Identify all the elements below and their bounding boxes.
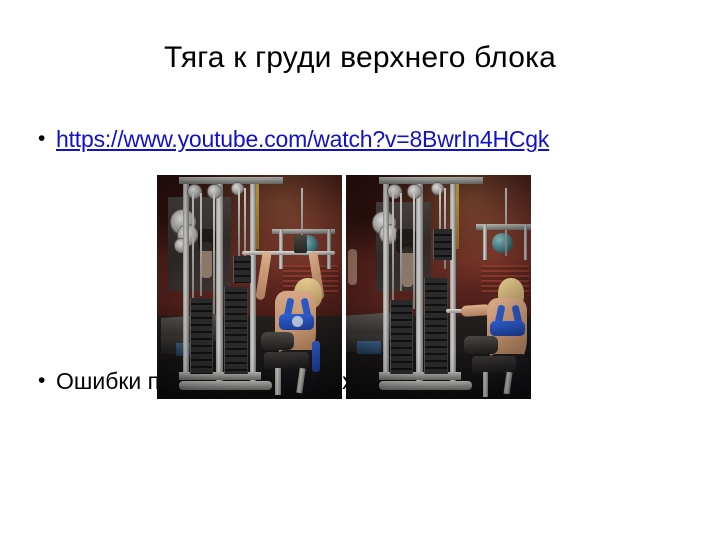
weight-stack [424, 278, 448, 374]
lat-pulldown-bar [242, 251, 335, 255]
bullet-marker-icon: • [34, 366, 56, 396]
body-placeholder: • https://www.youtube.com/watch?v=8BwrIn… [34, 124, 690, 154]
bullet-marker-icon: • [34, 124, 56, 154]
cable [200, 193, 202, 296]
cable [400, 193, 402, 292]
weight-stack [390, 300, 412, 374]
cable [413, 193, 415, 309]
cable [213, 193, 215, 314]
cable [505, 188, 507, 255]
support-post [327, 229, 331, 269]
support-post [524, 224, 528, 260]
bar-carabiner [294, 235, 307, 253]
machine-post [383, 179, 389, 376]
machine-foot [179, 381, 272, 390]
gym-photo-bar-down [346, 175, 531, 399]
seat-leg [483, 372, 489, 397]
cable [238, 188, 240, 255]
background-person-edge [348, 249, 357, 285]
machine-foot [379, 381, 472, 390]
sports-bra [490, 321, 525, 337]
weight-stack [190, 298, 212, 374]
exercise-ball [492, 233, 512, 253]
slide-canvas: Тяга к груди верхнего блока • https://ww… [0, 0, 720, 540]
thigh-pad [261, 332, 294, 350]
weight-stack [224, 287, 248, 374]
blue-mat [357, 341, 381, 354]
thigh-pad [464, 336, 497, 354]
cable [192, 193, 194, 305]
gym-photo-arms-up [157, 175, 342, 399]
list-item: • https://www.youtube.com/watch?v=8BwrIn… [34, 124, 690, 154]
waistband-accent [312, 341, 319, 372]
cable [392, 193, 394, 301]
weight-stack-selector [233, 256, 252, 283]
page-title: Тяга к груди верхнего блока [36, 40, 684, 76]
machine-top-beam [179, 177, 283, 184]
machine-top-beam [379, 177, 483, 184]
image-group [157, 175, 531, 399]
machine-post [216, 179, 223, 381]
machine-post [183, 179, 189, 376]
machine-post [416, 179, 423, 381]
youtube-link[interactable]: https://www.youtube.com/watch?v=8BwrIn4H… [56, 124, 549, 154]
support-post [483, 224, 487, 260]
seat-leg [275, 368, 281, 395]
weight-stack-selector [433, 229, 452, 260]
machine-post [450, 179, 457, 381]
support-post [279, 229, 283, 269]
